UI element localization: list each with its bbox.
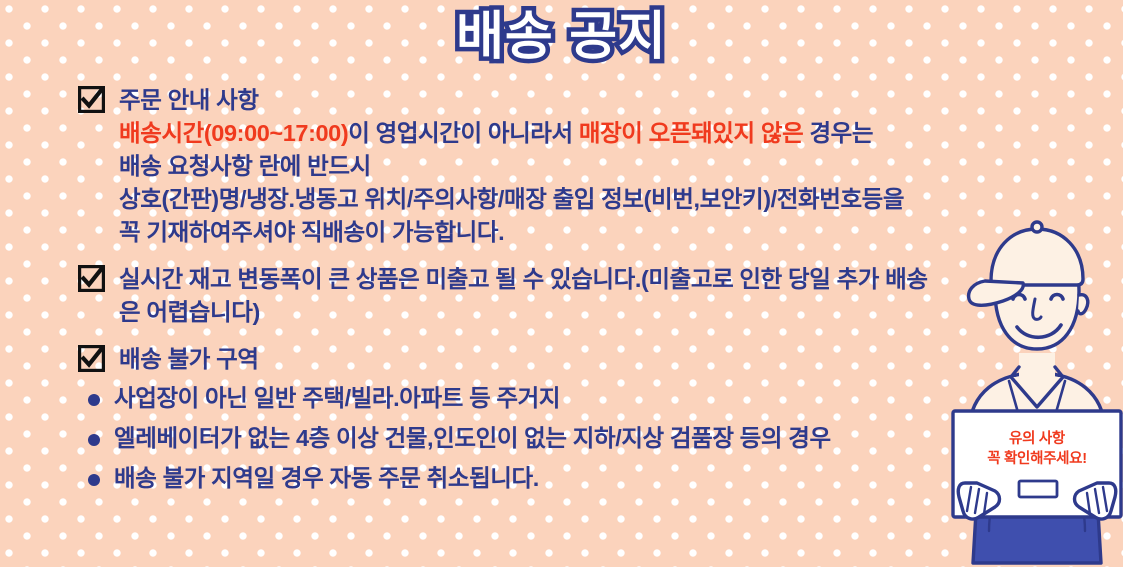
- bullet-dot-icon: [88, 474, 100, 486]
- checkbox-checked-icon: [78, 86, 105, 113]
- list-item: 사업장이 아닌 일반 주택/빌라.아파트 등 주거지: [78, 382, 1078, 415]
- notice-section-no-delivery-zone-lines: 배송 불가 구역: [119, 343, 1078, 376]
- checkbox-checked-icon: [78, 345, 105, 372]
- delivery-notice-poster: 배송 공지 주문 안내 사항 배송시간(09:00~17:00)이 영업시간이 …: [0, 0, 1123, 567]
- notice-text-segment: 배송시간(09:00~17:00): [119, 120, 348, 146]
- list-item-label: 배송 불가 지역일 경우 자동 주문 취소됩니다.: [114, 462, 1078, 495]
- bullet-dot-icon: [88, 434, 100, 446]
- notice-line: 실시간 재고 변동폭이 큰 상품은 미출고 될 수 있습니다.(미출고로 인한 …: [119, 263, 1078, 296]
- delivery-man-illustration: 유의 사항 꼭 확인해주세요!: [951, 215, 1123, 567]
- notice-content: 주문 안내 사항 배송시간(09:00~17:00)이 영업시간이 아니라서 매…: [78, 84, 1078, 502]
- notice-section-stock-lines: 실시간 재고 변동폭이 큰 상품은 미출고 될 수 있습니다.(미출고로 인한 …: [119, 263, 1078, 329]
- notice-line-highlighted: 배송시간(09:00~17:00)이 영업시간이 아니라서 매장이 오픈돼있지 …: [119, 117, 1078, 150]
- page-title: 배송 공지: [456, 8, 667, 68]
- notice-text-segment: 경우는: [803, 120, 873, 146]
- notice-line: 주문 안내 사항: [119, 84, 1078, 117]
- page-title-wrap: 배송 공지: [0, 8, 1123, 68]
- bullet-dot-icon: [88, 394, 100, 406]
- notice-section-stock: 실시간 재고 변동폭이 큰 상품은 미출고 될 수 있습니다.(미출고로 인한 …: [78, 263, 1078, 329]
- checkbox-checked-icon: [78, 265, 105, 292]
- notice-text-segment: 매장이 오픈돼있지 않은: [579, 120, 803, 146]
- notice-section-order-info-lines: 주문 안내 사항 배송시간(09:00~17:00)이 영업시간이 아니라서 매…: [119, 84, 1078, 249]
- notice-text-segment: 이 영업시간이 아니라서: [348, 120, 579, 146]
- list-item: 엘레베이터가 없는 4층 이상 건물,인도인이 없는 지하/지상 검품장 등의 …: [78, 422, 1078, 455]
- notice-section-no-delivery-zone: 배송 불가 구역: [78, 343, 1078, 376]
- notice-line: 은 어렵습니다): [119, 296, 1078, 329]
- no-delivery-zone-list: 사업장이 아닌 일반 주택/빌라.아파트 등 주거지 엘레베이터가 없는 4층 …: [78, 382, 1078, 495]
- notice-line: 상호(간판)명/냉장.냉동고 위치/주의사항/매장 출입 정보(비번,보안키)/…: [119, 183, 1078, 216]
- notice-line: 배송 요청사항 란에 반드시: [119, 150, 1078, 183]
- list-item: 배송 불가 지역일 경우 자동 주문 취소됩니다.: [78, 462, 1078, 495]
- list-item-label: 사업장이 아닌 일반 주택/빌라.아파트 등 주거지: [114, 382, 1078, 415]
- notice-section-order-info: 주문 안내 사항 배송시간(09:00~17:00)이 영업시간이 아니라서 매…: [78, 84, 1078, 249]
- list-item-label: 엘레베이터가 없는 4층 이상 건물,인도인이 없는 지하/지상 검품장 등의 …: [114, 422, 1078, 455]
- notice-line: 배송 불가 구역: [119, 343, 1078, 376]
- notice-line: 꼭 기재하여주셔야 직배송이 가능합니다.: [119, 216, 1078, 249]
